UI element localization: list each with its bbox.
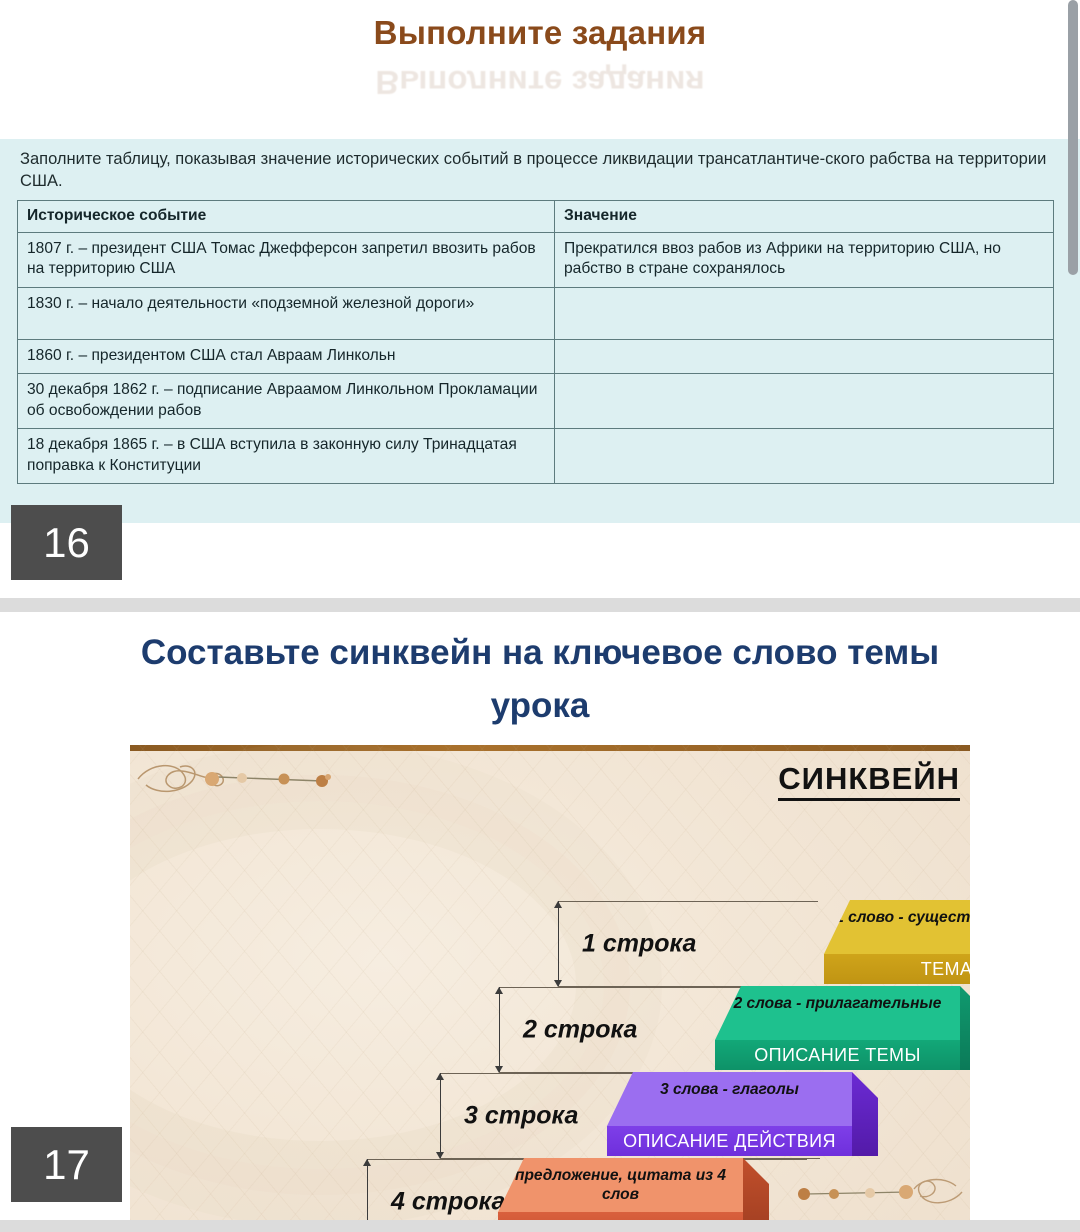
bracket-line-vertical bbox=[367, 1159, 368, 1220]
step-top-label-2: 2 слова - прилагательные bbox=[715, 986, 960, 1040]
diagram-heading: СИНКВЕЙН bbox=[778, 761, 960, 801]
scrollbar[interactable] bbox=[1066, 0, 1080, 598]
table-row: 18 декабря 1865 г. – в США вступила в за… bbox=[18, 429, 1054, 484]
step-face-label-3: ОПИСАНИЕ ДЕЙСТВИЯ bbox=[607, 1126, 852, 1156]
history-table: Историческое событие Значение 1807 г. – … bbox=[17, 200, 1054, 484]
cell-event: 1860 г. – президентом США стал Авраам Ли… bbox=[18, 339, 555, 374]
bracket-line-vertical bbox=[558, 901, 559, 987]
cell-meaning bbox=[555, 374, 1054, 429]
page-root: Выполните задания Выполните задания Запо… bbox=[0, 0, 1080, 1232]
step-side-3 bbox=[852, 1072, 878, 1156]
step-face-label-2: ОПИСАНИЕ ТЕМЫ bbox=[715, 1040, 960, 1070]
table-row: 1807 г. – президент США Томас Джефферсон… bbox=[18, 232, 1054, 287]
cell-meaning bbox=[555, 287, 1054, 339]
cell-event: 18 декабря 1865 г. – в США вступила в за… bbox=[18, 429, 555, 484]
arrow-up-icon bbox=[554, 901, 562, 908]
slide-16-content: Выполните задания Выполните задания Запо… bbox=[0, 0, 1080, 590]
slide-16-title-block: Выполните задания Выполните задания bbox=[0, 14, 1080, 101]
bracket-line-top bbox=[558, 901, 818, 902]
page-title-reflection: Выполните задания bbox=[0, 63, 1080, 101]
step-face-label-4: ОТНОШЕНИЕ К ТЕМЕ bbox=[498, 1212, 743, 1220]
step-side-4 bbox=[743, 1158, 769, 1220]
card-gap bbox=[0, 598, 1080, 612]
step-top-label-1: 1 слово - существительное bbox=[824, 900, 970, 954]
cell-meaning bbox=[555, 429, 1054, 484]
cell-meaning bbox=[555, 339, 1054, 374]
step-block-2: 2 слова - прилагательные ОПИСАНИЕ ТЕМЫ bbox=[715, 986, 960, 1070]
slide-number-badge: 16 bbox=[11, 505, 122, 580]
task-instruction: Заполните таблицу, показывая значение ис… bbox=[20, 148, 1062, 192]
cell-event: 30 декабря 1862 г. – подписание Авраамом… bbox=[18, 374, 555, 429]
task-panel: Заполните таблицу, показывая значение ис… bbox=[0, 139, 1080, 523]
card-gap bbox=[0, 1220, 1080, 1232]
scrollbar-thumb[interactable] bbox=[1068, 0, 1078, 275]
bracket-label: 1 строка bbox=[582, 930, 696, 959]
step-side-2 bbox=[960, 986, 970, 1070]
step-block-4: предложение, цитата из 4 слов ОТНОШЕНИЕ … bbox=[498, 1158, 743, 1220]
slide-card-16[interactable]: Выполните задания Выполните задания Запо… bbox=[0, 0, 1080, 598]
bracket-label: 3 строка bbox=[464, 1102, 578, 1131]
bracket-label: 4 строка bbox=[391, 1188, 505, 1217]
table-header-row: Историческое событие Значение bbox=[18, 201, 1054, 233]
step-top-label-3: 3 слова - глаголы bbox=[607, 1072, 852, 1126]
column-header-meaning: Значение bbox=[555, 201, 1054, 233]
slide-card-17[interactable]: Составьте синквейн на ключевое слово тем… bbox=[0, 612, 1080, 1220]
bracket-line-vertical bbox=[440, 1073, 441, 1159]
slide-number-badge: 17 bbox=[11, 1127, 122, 1202]
bracket-label: 2 строка bbox=[523, 1016, 637, 1045]
table-row: 1860 г. – президентом США стал Авраам Ли… bbox=[18, 339, 1054, 374]
column-header-event: Историческое событие bbox=[18, 201, 555, 233]
slide-17-title: Составьте синквейн на ключевое слово тем… bbox=[90, 626, 990, 732]
arrow-up-icon bbox=[363, 1159, 371, 1166]
step-block-3: 3 слова - глаголы ОПИСАНИЕ ДЕЙСТВИЯ bbox=[607, 1072, 852, 1156]
bracket-line-vertical bbox=[499, 987, 500, 1073]
cell-event: 1830 г. – начало деятельности «подземной… bbox=[18, 287, 555, 339]
step-block-1: 1 слово - существительное ТЕМА bbox=[824, 900, 970, 984]
table-row: 1830 г. – начало деятельности «подземной… bbox=[18, 287, 1054, 339]
sinkvein-diagram: СИНКВЕЙН 1 строка 2 строка bbox=[130, 745, 970, 1220]
step-face-label-1: ТЕМА bbox=[824, 954, 970, 984]
table-row: 30 декабря 1862 г. – подписание Авраамом… bbox=[18, 374, 1054, 429]
flourish-ornament-icon bbox=[766, 1163, 966, 1216]
arrow-up-icon bbox=[436, 1073, 444, 1080]
cell-meaning: Прекратился ввоз рабов из Африки на терр… bbox=[555, 232, 1054, 287]
page-title: Выполните задания bbox=[0, 14, 1080, 52]
cell-event: 1807 г. – президент США Томас Джефферсон… bbox=[18, 232, 555, 287]
arrow-up-icon bbox=[495, 987, 503, 994]
step-top-label-4: предложение, цитата из 4 слов bbox=[498, 1158, 743, 1212]
